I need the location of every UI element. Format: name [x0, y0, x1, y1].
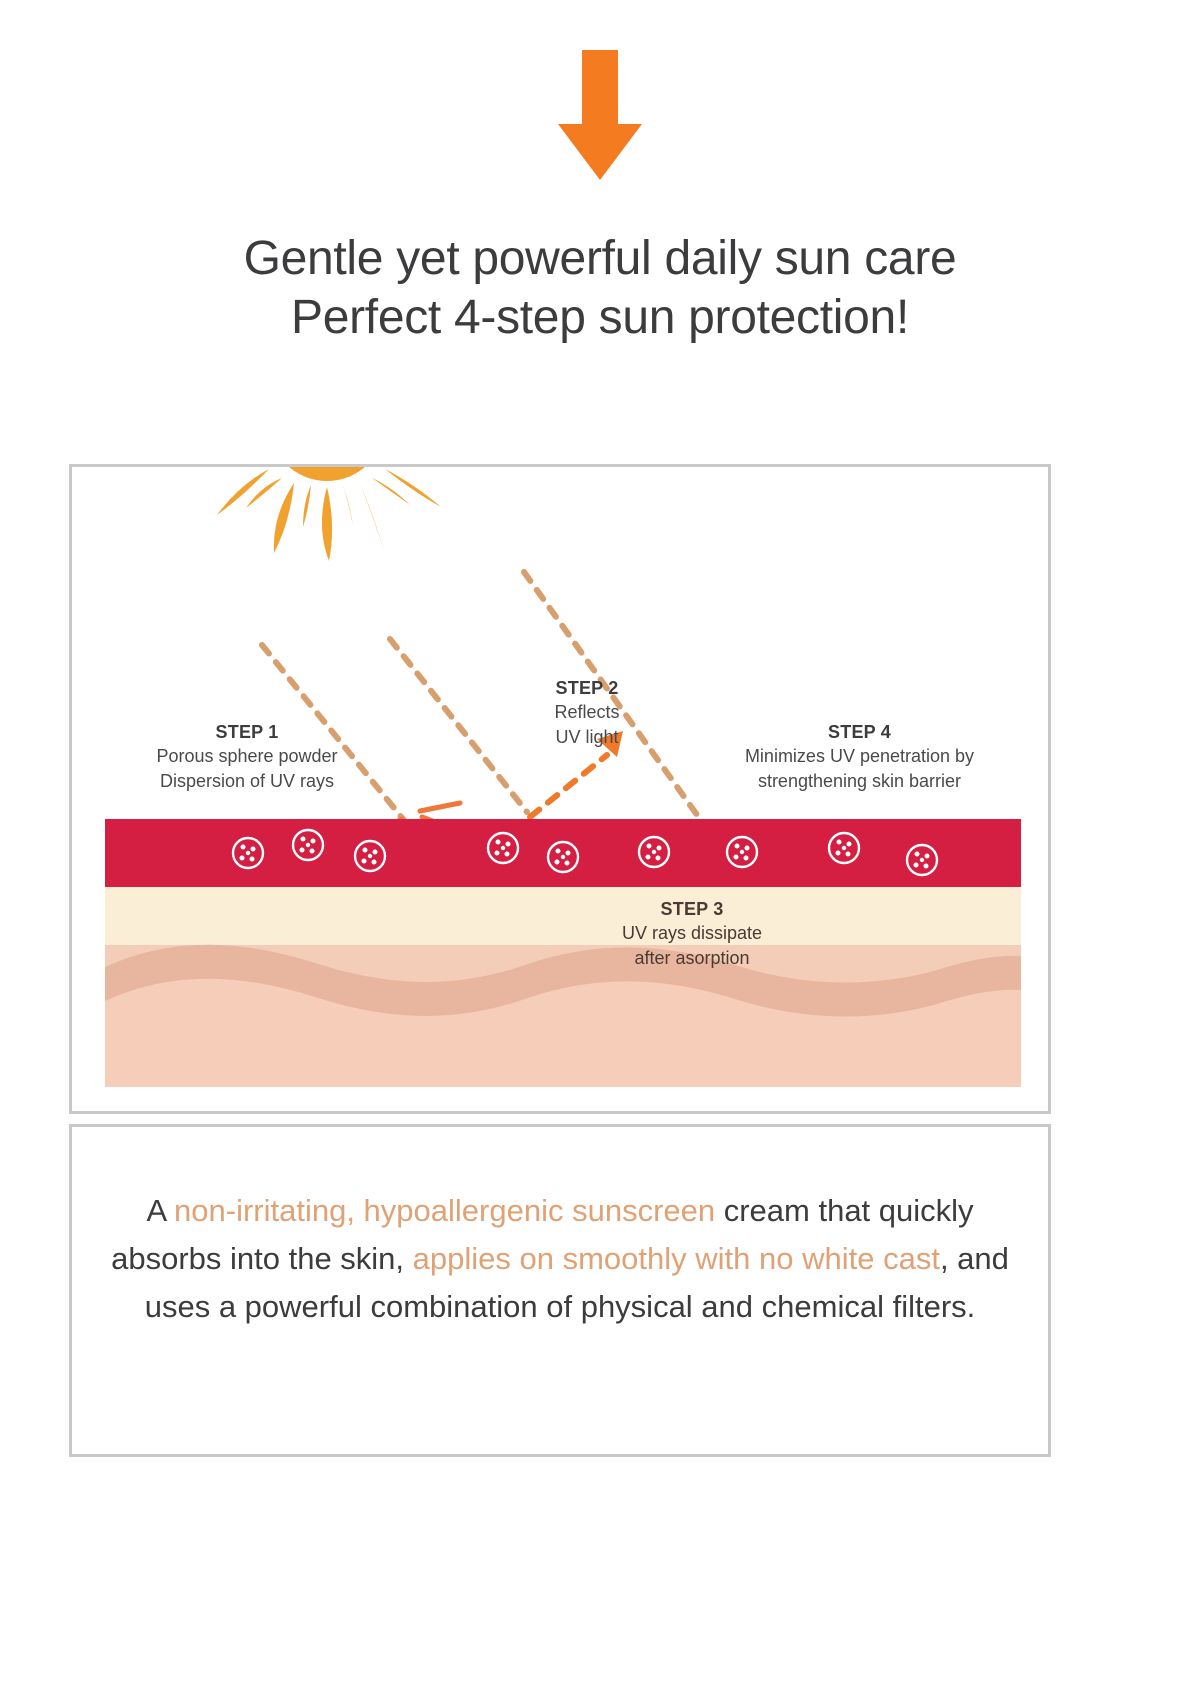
step-4-label: STEP 4 Minimizes UV penetration by stren… — [672, 720, 1047, 793]
step-1-heading: STEP 1 — [82, 720, 412, 744]
headline-line-1: Gentle yet powerful daily sun care — [0, 230, 1200, 289]
step-1-line-1: Porous sphere powder — [82, 744, 412, 768]
porous-sphere-powder-icon — [231, 836, 265, 870]
step-2-line-2: UV light — [497, 725, 677, 749]
product-description-panel: A non-irritating, hypoallergenic sunscre… — [69, 1124, 1051, 1457]
step-3-line-2: after asorption — [527, 946, 857, 970]
arrow-down-icon — [540, 46, 660, 186]
porous-sphere-powder-icon — [725, 835, 759, 869]
product-description-text: A non-irritating, hypoallergenic sunscre… — [72, 1187, 1048, 1331]
porous-sphere-powder-icon — [291, 828, 325, 862]
porous-sphere-powder-icon — [486, 831, 520, 865]
step-3-line-1: UV rays dissipate — [527, 921, 857, 945]
headline-line-2: Perfect 4-step sun protection! — [0, 289, 1200, 348]
diagram-canvas: STEP 1 Porous sphere powder Dispersion o… — [72, 467, 1048, 1111]
porous-sphere-powder-icon — [637, 835, 671, 869]
step-2-heading: STEP 2 — [497, 676, 677, 700]
copy-highlight-1: non-irritating, hypoallergenic sunscreen — [174, 1193, 715, 1228]
step-2-line-1: Reflects — [497, 700, 677, 724]
step-3-heading: STEP 3 — [527, 897, 857, 921]
step-4-line-1: Minimizes UV penetration by — [672, 744, 1047, 768]
porous-sphere-powder-icon — [827, 831, 861, 865]
top-arrow-container — [0, 46, 1200, 186]
step-3-label: STEP 3 UV rays dissipate after asorption — [527, 897, 857, 970]
step-1-line-2: Dispersion of UV rays — [82, 769, 412, 793]
step-2-label: STEP 2 Reflects UV light — [497, 676, 677, 749]
copy-segment-1: A — [146, 1193, 174, 1228]
copy-highlight-2: applies on smoothly with no white cast — [413, 1241, 940, 1276]
step-1-label: STEP 1 Porous sphere powder Dispersion o… — [82, 720, 412, 793]
step-4-heading: STEP 4 — [672, 720, 1047, 744]
step-4-line-2: strengthening skin barrier — [672, 769, 1047, 793]
page-title: Gentle yet powerful daily sun care Perfe… — [0, 230, 1200, 347]
powder-sphere-row — [105, 819, 1021, 887]
porous-sphere-powder-icon — [905, 843, 939, 877]
porous-sphere-powder-icon — [353, 839, 387, 873]
porous-sphere-powder-icon — [546, 840, 580, 874]
sun-protection-diagram-panel: STEP 1 Porous sphere powder Dispersion o… — [69, 464, 1051, 1114]
